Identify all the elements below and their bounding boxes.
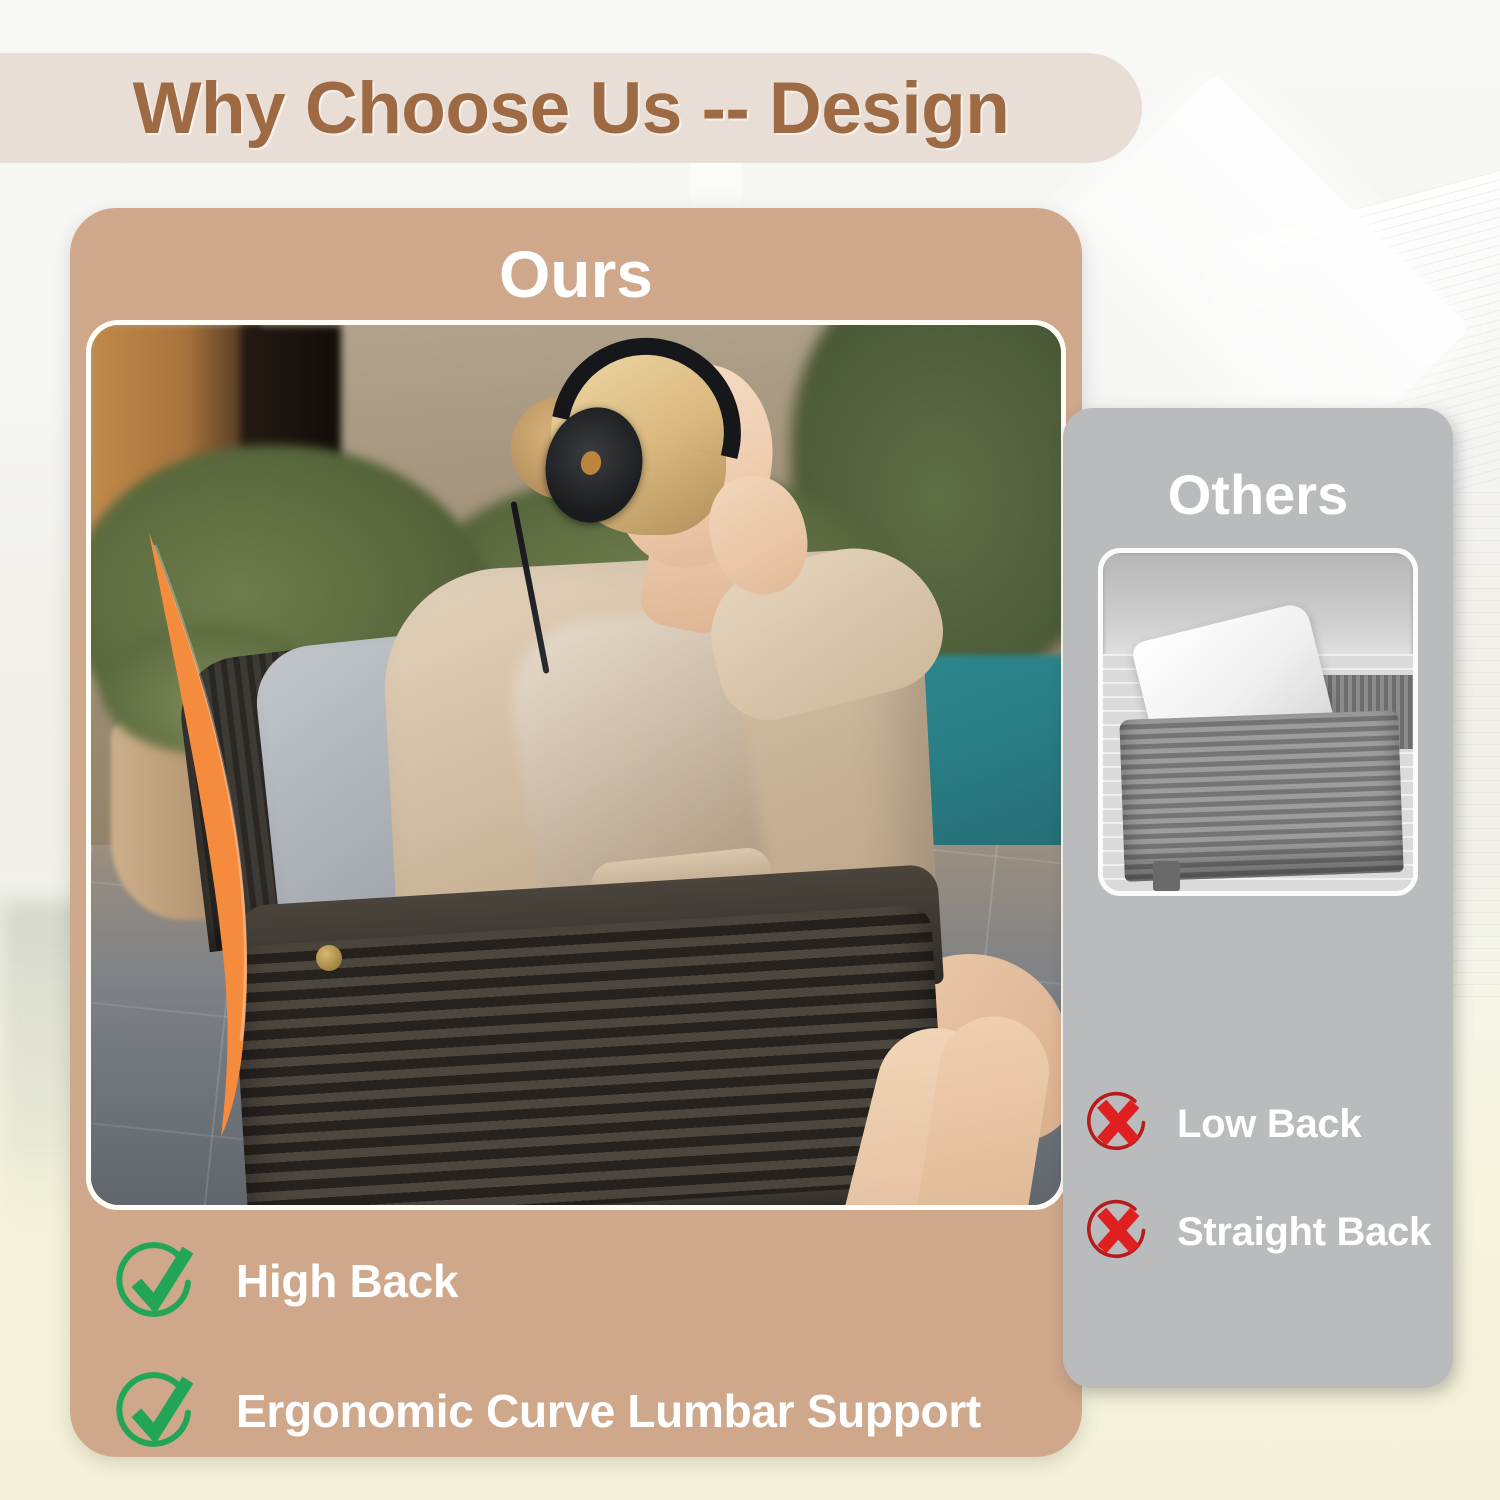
sofa-woven-front-panel [232, 904, 951, 1205]
cross-circle-icon [1083, 1196, 1155, 1268]
sofa-brass-bolt [316, 945, 342, 971]
cross-circle-icon [1083, 1088, 1155, 1160]
others-sofa-foot [1153, 861, 1181, 891]
others-panel: Others Low Back [1063, 408, 1453, 1388]
ours-feature-item: High Back [114, 1238, 1054, 1324]
others-heading: Others [1063, 462, 1453, 527]
others-feature-label: Straight Back [1177, 1210, 1431, 1255]
ours-feature-label: Ergonomic Curve Lumbar Support [236, 1384, 981, 1438]
others-sofa-body [1119, 710, 1403, 882]
infographic-page: Why Choose Us -- Design Ours [0, 0, 1500, 1500]
page-title: Why Choose Us -- Design [133, 67, 1010, 150]
ours-feature-item: Ergonomic Curve Lumbar Support [114, 1368, 1054, 1454]
others-feature-item: Low Back [1083, 1088, 1443, 1160]
check-circle-icon [114, 1368, 200, 1454]
ours-feature-label: High Back [236, 1254, 458, 1308]
ours-panel: Ours [70, 208, 1082, 1457]
others-feature-list: Low Back Straight Back [1083, 1088, 1443, 1304]
check-circle-icon [114, 1238, 200, 1324]
others-product-photo [1103, 553, 1413, 891]
title-banner: Why Choose Us -- Design [0, 53, 1142, 163]
ours-product-photo [91, 325, 1061, 1205]
ours-feature-list: High Back Ergonomic Curve Lumbar Support [114, 1238, 1054, 1457]
ours-heading: Ours [70, 236, 1082, 312]
others-photo-frame [1098, 548, 1418, 896]
others-feature-label: Low Back [1177, 1102, 1361, 1147]
others-feature-item: Straight Back [1083, 1196, 1443, 1268]
ours-photo-frame [86, 320, 1066, 1210]
